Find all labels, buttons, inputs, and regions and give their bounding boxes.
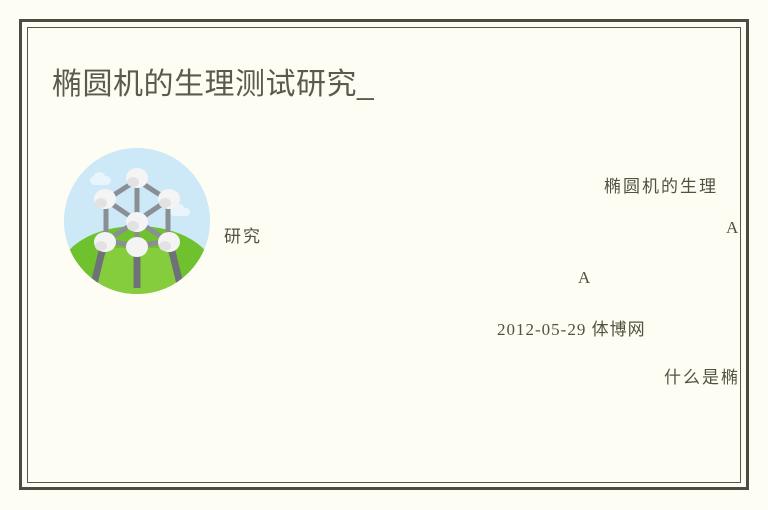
snippet-date-source-text: 2012-05-29 体博网: [497, 315, 646, 340]
page-title: 椭圆机的生理测试研究_: [52, 64, 374, 106]
snippet-letter-a-middle: A: [578, 268, 592, 288]
snippet-research-text: 研究: [224, 222, 262, 247]
atomium-thumbnail: [64, 148, 210, 294]
page-canvas: 椭圆机的生理测试研究_: [0, 0, 768, 510]
snippet-title-line-text: 椭圆机的生理: [604, 172, 718, 197]
snippet-letter-a-top: A: [726, 218, 740, 238]
snippet-question-text: 什么是椭: [664, 363, 740, 388]
atomium-structure-icon: [64, 148, 210, 294]
